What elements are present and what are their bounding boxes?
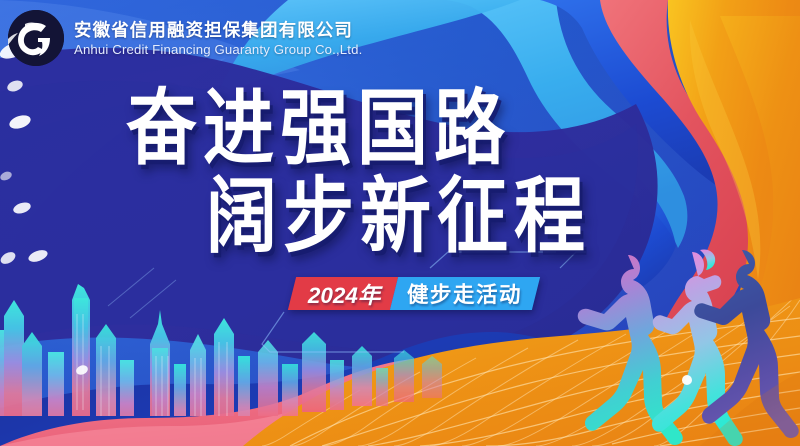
event-poster: 安徽省信用融资担保集团有限公司 Anhui Credit Financing G… [0, 0, 800, 446]
building-10 [214, 318, 234, 430]
company-logo-icon [8, 10, 64, 66]
building-r8 [422, 356, 442, 398]
glow-dot [682, 375, 692, 385]
building-2 [4, 300, 24, 430]
subtitle-activity-text: 健步走活动 [407, 278, 522, 309]
brand-text-group: 安徽省信用融资担保集团有限公司 Anhui Credit Financing G… [74, 18, 362, 57]
building-5 [96, 324, 116, 430]
company-name-en: Anhui Credit Financing Guaranty Group Co… [74, 42, 362, 58]
building-3 [22, 332, 42, 430]
building-r7 [394, 350, 414, 402]
company-name-cn: 安徽省信用融资担保集团有限公司 [74, 20, 362, 41]
building-r6 [376, 368, 388, 406]
building-r5 [352, 346, 372, 406]
subtitle-year-text: 2024年 [308, 278, 381, 310]
subtitle-banner: 2024年 健步走活动 [288, 277, 540, 310]
subtitle-activity-chip: 健步走活动 [389, 277, 539, 310]
building-r2 [282, 364, 298, 416]
poster-artwork [0, 0, 800, 446]
brand-header: 安徽省信用融资担保集团有限公司 Anhui Credit Financing G… [8, 10, 362, 66]
building-r4 [330, 360, 344, 410]
building-9 [190, 334, 206, 430]
building-r3 [302, 332, 326, 412]
subtitle-year-chip: 2024年 [288, 277, 398, 310]
